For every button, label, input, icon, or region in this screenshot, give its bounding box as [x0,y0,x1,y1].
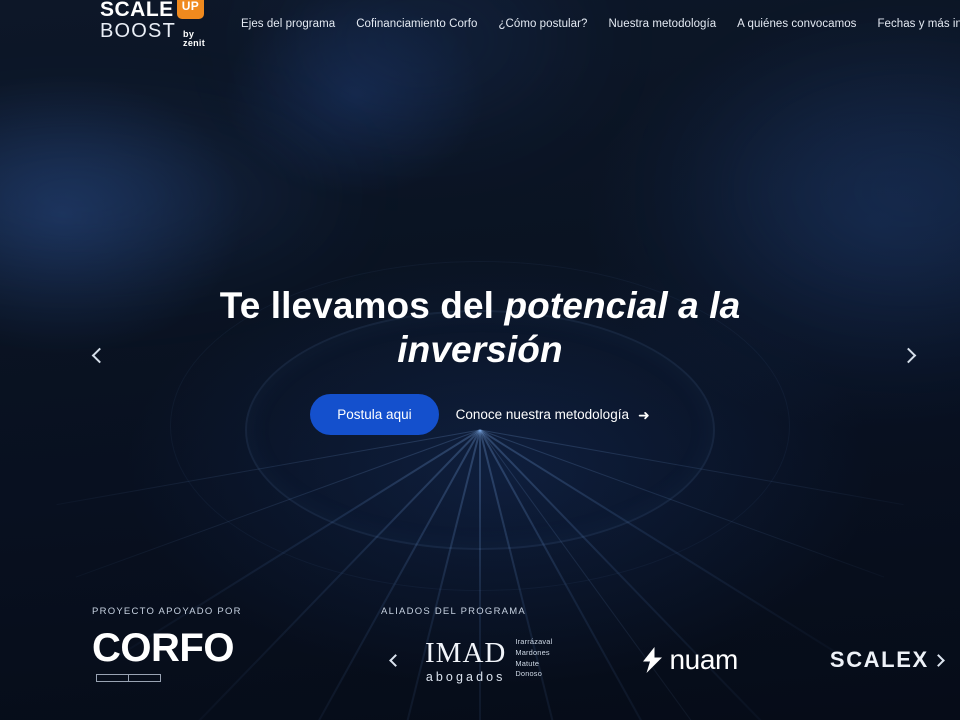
hero-title-plain: Te llevamos del [220,285,505,326]
nav-item-a-quienes-convocamos[interactable]: A quiénes convocamos [737,18,856,30]
nav-item-como-postular[interactable]: ¿Cómo postular? [498,18,587,30]
imad-wordmark: IMAD abogados [425,639,506,684]
hero-prev-button[interactable] [84,342,110,368]
logo-scale-text: SCALE [100,0,174,20]
imad-name-4: Donoso [515,669,552,680]
allies-prev-button[interactable] [381,645,405,675]
arrow-right-icon: ➜ [638,408,650,422]
project-support-block: PROYECTO APOYADO POR CORFO [92,606,242,682]
nav-item-nuestra-metodologia[interactable]: Nuestra metodología [608,18,716,30]
logo-bottom-row: BOOST by zenit [100,21,205,48]
ally-logo-imad[interactable]: IMAD abogados Irarrázaval Mardones Matut… [425,637,552,683]
imad-main-text: IMAD [425,639,506,668]
conoce-metodologia-label: Conoce nuestra metodología [456,407,629,422]
ally-logo-scalex[interactable]: SCALEX [830,647,929,673]
corfo-logo: CORFO [92,628,242,668]
conoce-metodologia-link[interactable]: Conoce nuestra metodología ➜ [456,407,650,422]
imad-name-3: Matute [515,659,552,670]
hero-cta-group: Postula aqui Conoce nuestra metodología … [0,394,960,435]
logo-up-badge: UP [177,0,204,19]
allies-logo-track: IMAD abogados Irarrázaval Mardones Matut… [405,637,929,683]
nav-item-fechas-y-mas-informacion[interactable]: Fechas y más información [877,18,960,30]
main-navigation: Ejes del programa Cofinanciamiento Corfo… [241,18,960,30]
chevron-left-icon [389,654,402,667]
imad-name-2: Mardones [515,648,552,659]
hero-title: Te llevamos del potencial a la inversión [0,284,960,372]
chevron-right-icon [932,654,945,667]
logo-boost-text: BOOST [100,21,176,41]
partners-section: PROYECTO APOYADO POR CORFO ALIADOS DEL P… [0,600,960,720]
nuam-wordmark: nuam [669,644,737,676]
site-header: SCALE UP BOOST by zenit Ejes del program… [0,0,960,47]
lightning-bolt-icon [640,645,666,675]
page-root: SCALE UP BOOST by zenit Ejes del program… [0,0,960,720]
allies-label: ALIADOS DEL PROGRAMA [381,606,940,617]
hero-next-button[interactable] [897,342,923,368]
ally-logo-nuam[interactable]: nuam [640,644,737,676]
corfo-logo-bar [96,674,161,682]
logo-top-row: SCALE UP [100,0,205,20]
site-logo[interactable]: SCALE UP BOOST by zenit [100,0,205,48]
nav-item-ejes-del-programa[interactable]: Ejes del programa [241,18,335,30]
allies-block: ALIADOS DEL PROGRAMA IMAD abogados Irarr… [381,606,940,690]
logo-by-zenit-text: by zenit [183,30,205,48]
chevron-right-icon [900,347,916,363]
chevron-left-icon [91,347,107,363]
imad-sub-text: abogados [426,671,506,684]
logo-up-text: UP [182,0,199,12]
project-support-label: PROYECTO APOYADO POR [92,606,242,617]
postula-aqui-button[interactable]: Postula aqui [310,394,438,435]
nav-item-cofinanciamiento-corfo[interactable]: Cofinanciamiento Corfo [356,18,477,30]
imad-partner-names: Irarrázaval Mardones Matute Donoso [515,637,552,683]
allies-carousel: IMAD abogados Irarrázaval Mardones Matut… [381,630,940,690]
allies-next-button[interactable] [929,645,953,675]
imad-name-1: Irarrázaval [515,637,552,648]
